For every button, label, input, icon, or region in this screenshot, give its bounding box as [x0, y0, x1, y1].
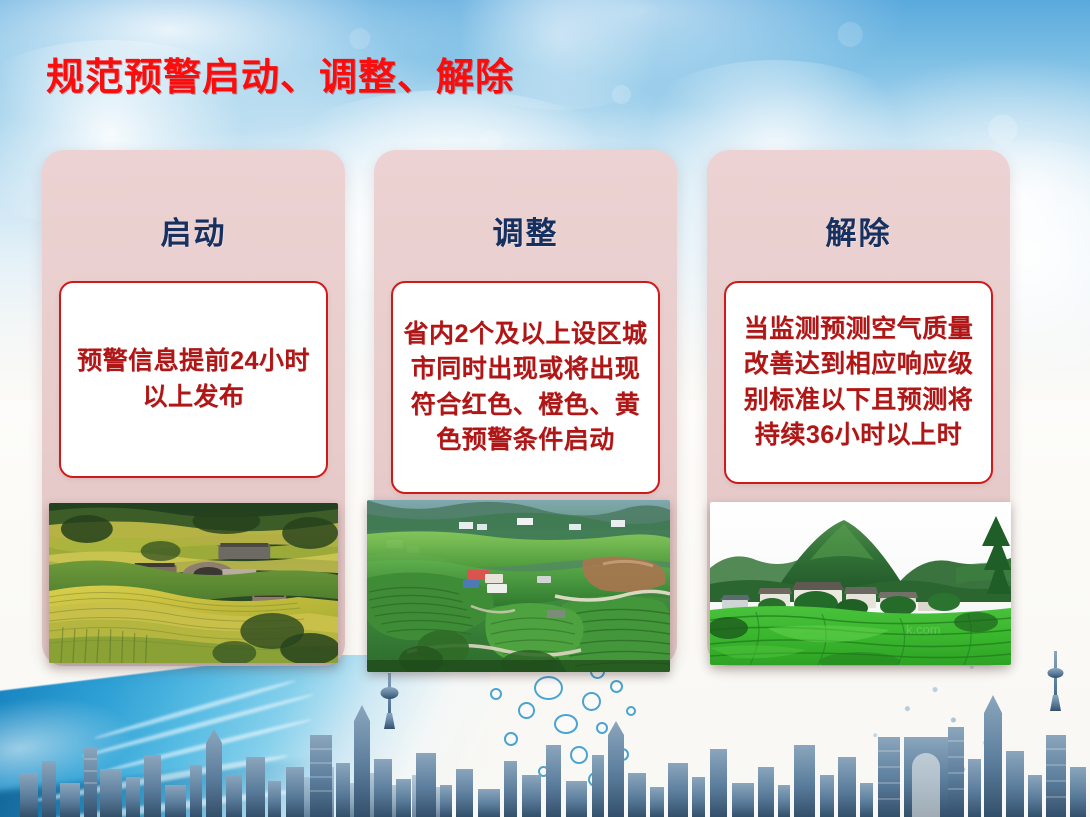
svg-text:k.com: k.com — [906, 622, 941, 637]
card-group: 启动 预警信息提前24小时以上发布 — [0, 0, 1090, 817]
card-body-qidong: 预警信息提前24小时以上发布 — [61, 344, 326, 415]
terraced-rice-fields-photo — [49, 503, 338, 663]
card-title-qidong: 启动 — [42, 208, 345, 253]
card-qidong[interactable]: 启动 预警信息提前24小时以上发布 — [42, 150, 345, 666]
slide-root: 规范预警启动、调整、解除 启动 预警信息提前24小时以上发布 — [0, 0, 1090, 817]
card-box-qidong: 预警信息提前24小时以上发布 — [59, 281, 328, 478]
card-body-jiechu: 当监测预测空气质量改善达到相应响应级别标准以下且预测将持续36小时以上时 — [726, 312, 991, 454]
card-title-tiaozheng: 调整 — [374, 208, 677, 253]
card-title-jiechu: 解除 — [707, 208, 1010, 253]
page-title: 规范预警启动、调整、解除 — [46, 46, 514, 101]
card-body-tiaozheng: 省内2个及以上设区城市同时出现或将出现符合红色、橙色、黄色预警条件启动 — [393, 317, 658, 459]
card-jiechu[interactable]: 解除 当监测预测空气质量改善达到相应响应级别标准以下且预测将持续36小时以上时 — [707, 150, 1010, 666]
card-tiaozheng[interactable]: 调整 省内2个及以上设区城市同时出现或将出现符合红色、橙色、黄色预警条件启动 — [374, 150, 677, 666]
tea-plantation-photo — [367, 500, 670, 672]
rice-paddy-mountain-photo: k.com — [710, 502, 1011, 665]
card-box-jiechu: 当监测预测空气质量改善达到相应响应级别标准以下且预测将持续36小时以上时 — [724, 281, 993, 484]
card-box-tiaozheng: 省内2个及以上设区城市同时出现或将出现符合红色、橙色、黄色预警条件启动 — [391, 281, 660, 494]
